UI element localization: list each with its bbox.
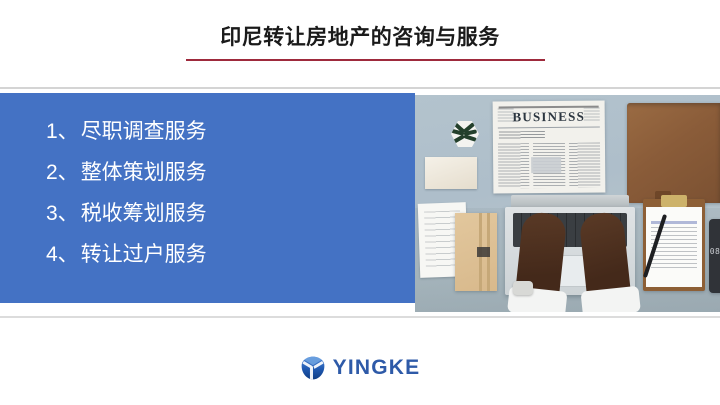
laptop-screen [511,195,629,207]
list-item-index: 2、 [46,152,79,193]
newspaper-photo-block [531,157,561,173]
yingke-cube-icon [300,355,326,381]
tan-notebook [455,213,497,291]
list-item-label: 税收筹划服务 [81,193,207,234]
list-item-label: 尽职调查服务 [81,111,207,152]
list-item[interactable]: 1、 尽职调查服务 [46,111,405,152]
content-top-divider [0,87,720,89]
newspaper-rule [498,127,600,129]
title-underline-rule [186,59,545,61]
list-item-index: 1、 [46,111,79,152]
shirt-cuff-right [580,286,640,312]
list-item[interactable]: 4、 转让过户服务 [46,234,405,275]
newspaper-column [569,143,601,188]
list-item-label: 转让过户服务 [81,234,207,275]
list-item[interactable]: 3、 税收筹划服务 [46,193,405,234]
desk-photo: BUSINESS [415,95,720,312]
clipboard-clip [661,195,687,207]
services-list: 1、 尽职调查服务 2、 整体策划服务 3、 税收筹划服务 4、 转让过户服务 [46,111,405,275]
list-item-index: 4、 [46,234,79,275]
list-item-index: 3、 [46,193,79,234]
notebook-clip [477,247,490,257]
list-item[interactable]: 2、 整体策划服务 [46,152,405,193]
newspaper-lead-text [499,131,545,139]
content-bottom-divider [0,316,720,318]
newspaper-headline: BUSINESS [493,109,605,126]
smartphone-clock: 08:15 [709,247,720,256]
page-title: 印尼转让房地产的咨询与服务 [0,24,720,52]
envelope-card [425,157,477,189]
footer-logo: YINGKE [0,355,720,381]
services-list-panel: 1、 尽职调查服务 2、 整体策划服务 3、 税收筹划服务 4、 转让过户服务 [0,93,415,303]
smartphone: 08:15 [709,219,720,293]
newspaper: BUSINESS [493,101,606,194]
newspaper-column [498,143,530,188]
clipboard-form-header-band [651,221,697,224]
leather-folder [627,103,720,203]
page-title-text: 印尼转让房地产的咨询与服务 [220,24,500,52]
yingke-logo-text: YINGKE [333,355,421,381]
wristwatch [513,281,533,295]
slide-canvas: 印尼转让房地产的咨询与服务 1、 尽职调查服务 2、 整体策划服务 3、 税收筹… [0,0,720,405]
list-item-label: 整体策划服务 [81,152,207,193]
